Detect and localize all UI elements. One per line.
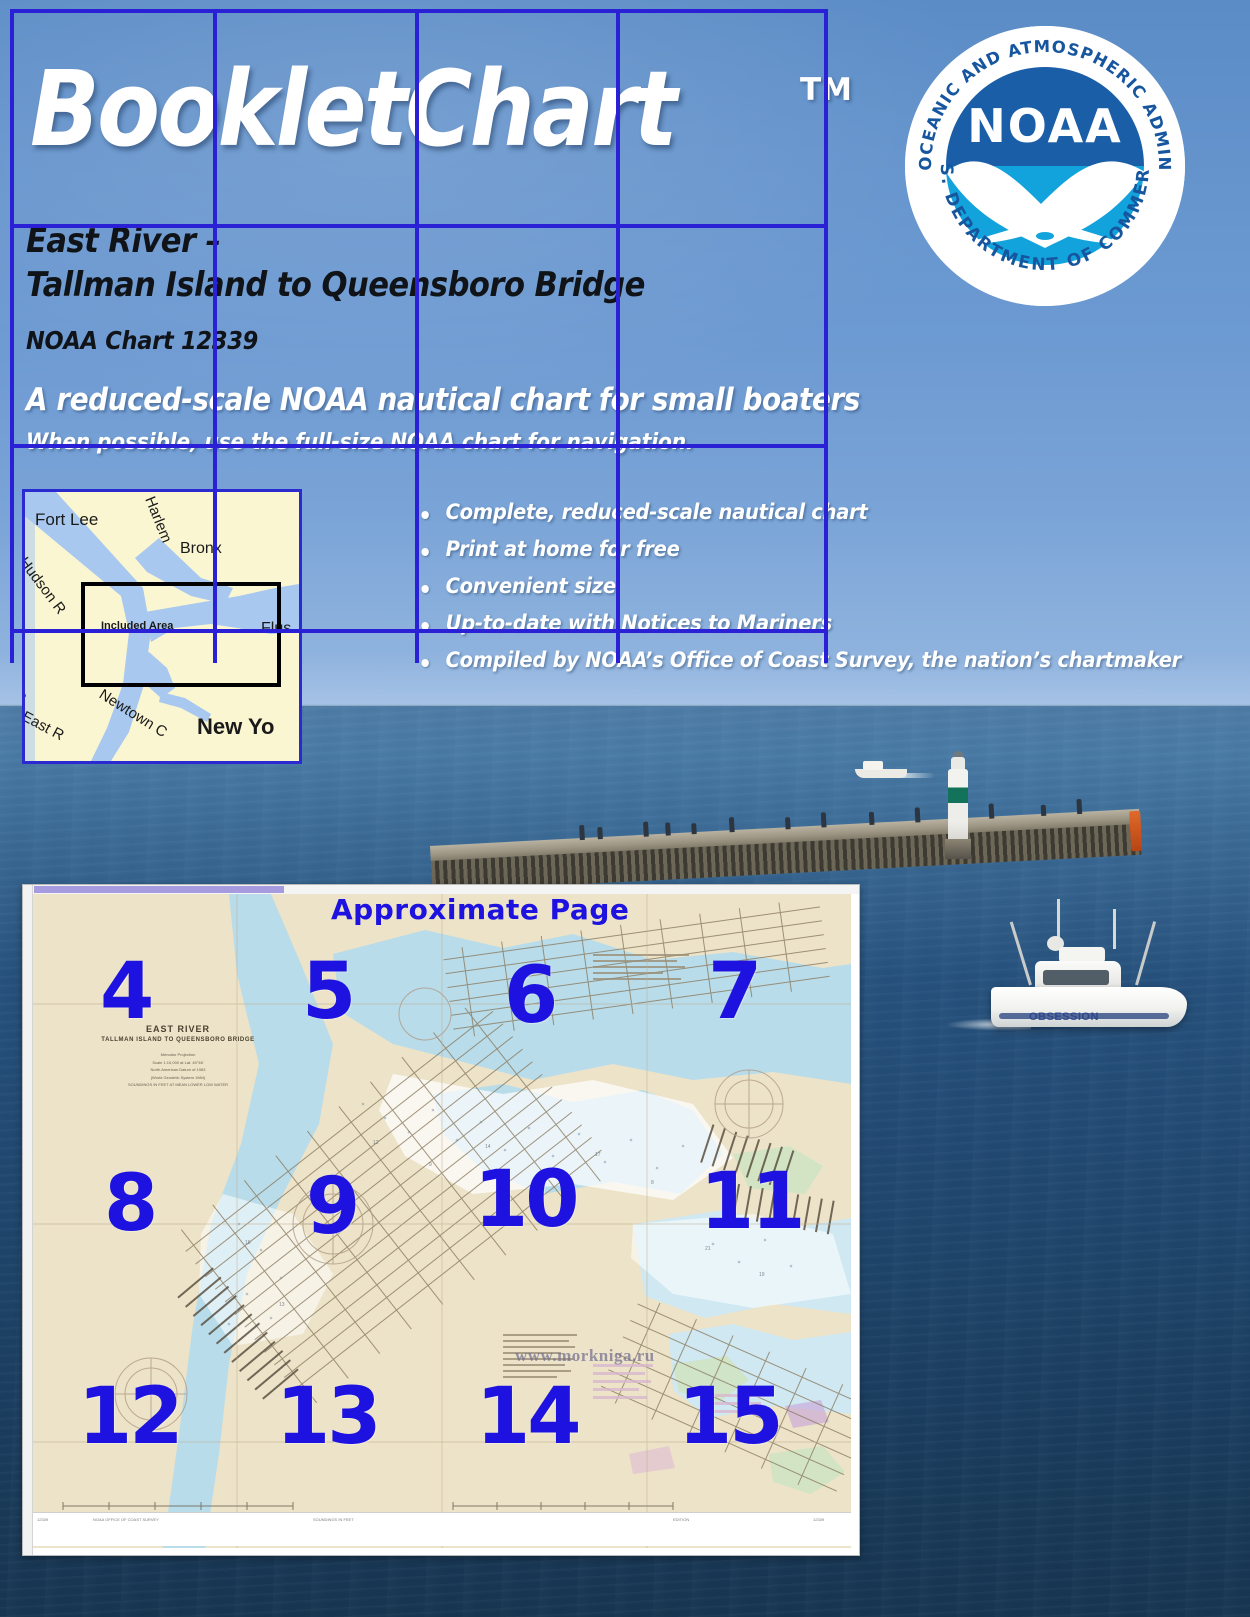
- sportfishing-boat: OBSESSION: [985, 900, 1195, 1035]
- page-number-cell: 7: [708, 953, 759, 1031]
- grid-line-vertical: [415, 9, 419, 663]
- chart-panel-titlebar: [34, 886, 284, 893]
- page-number-cell: 14: [476, 1378, 579, 1456]
- approximate-page-label: Approximate Page: [331, 893, 629, 926]
- noaa-wordmark: NOAA: [967, 99, 1123, 153]
- chart-panel-left-edge: [23, 885, 33, 1556]
- grid-line-vertical: [616, 9, 620, 663]
- grid-line-horizontal: [10, 224, 828, 228]
- grid-line-horizontal: [10, 9, 828, 13]
- boat-name: OBSESSION: [1029, 1011, 1099, 1023]
- page-number-cell: 6: [504, 957, 555, 1035]
- cover-page: OBSESSION BookletChart TM East River – T…: [0, 0, 1250, 1617]
- grid-line-vertical: [10, 9, 14, 663]
- page-number-cell: 8: [104, 1165, 155, 1243]
- svg-text:16: 16: [245, 1240, 251, 1246]
- grid-line-vertical: [213, 9, 217, 663]
- distant-boat: [855, 758, 907, 778]
- page-number-cell: 11: [700, 1163, 803, 1241]
- page-number-cell: 10: [474, 1161, 577, 1239]
- pier-end-marker: [1129, 811, 1142, 852]
- chart-title-block-line1: EAST RIVER: [88, 1024, 268, 1034]
- grid-line-horizontal: [10, 444, 828, 448]
- svg-text:19: 19: [759, 1272, 765, 1278]
- page-number-cell: 15: [678, 1378, 781, 1456]
- page-number-cell: 9: [306, 1168, 357, 1246]
- page-index-grid: [10, 9, 828, 663]
- grid-line-horizontal: [10, 629, 828, 633]
- chart-title-block-fine-print: Mercator Projection Scale 1:10,000 at La…: [88, 1051, 268, 1089]
- svg-text:14: 14: [485, 1144, 491, 1150]
- page-number-cell: 4: [100, 953, 151, 1031]
- chart-footer-band: 12339 NOAA OFFICE OF COAST SURVEY SOUNDI…: [33, 1512, 851, 1546]
- grid-line-vertical: [824, 9, 828, 663]
- svg-text:12: 12: [373, 1140, 379, 1146]
- svg-text:13: 13: [279, 1302, 285, 1308]
- svg-text:9: 9: [429, 1162, 432, 1168]
- noaa-seal-svg: NOAA NATIONAL OCEANIC AND ATMOSPHERIC AD…: [901, 22, 1189, 310]
- svg-text:17: 17: [595, 1152, 601, 1158]
- chart-title-block-line2: TALLMAN ISLAND TO QUEENSBORO BRIDGE: [88, 1037, 268, 1043]
- locator-label-new-york: New Yo: [197, 714, 274, 740]
- page-number-cell: 5: [302, 953, 353, 1031]
- noaa-seal-logo: NOAA NATIONAL OCEANIC AND ATMOSPHERIC AD…: [901, 22, 1189, 310]
- lighthouse: [945, 751, 971, 859]
- page-number-cell: 13: [276, 1378, 379, 1456]
- watermark-text: www.morkniga.ru: [515, 1346, 655, 1366]
- page-number-cell: 12: [78, 1378, 181, 1456]
- svg-text:8: 8: [651, 1180, 654, 1186]
- chart-title-block: EAST RIVER TALLMAN ISLAND TO QUEENSBORO …: [88, 1024, 268, 1089]
